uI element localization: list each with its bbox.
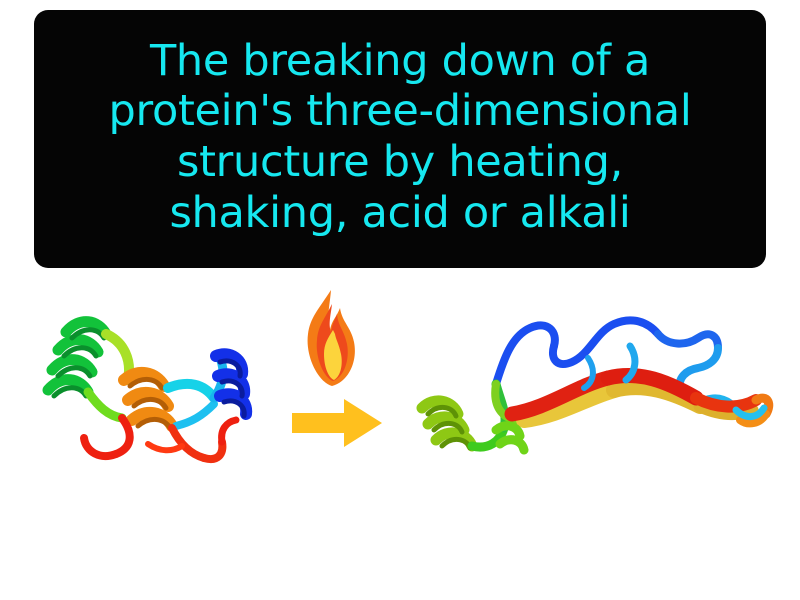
definition-panel: The breaking down of a protein's three-d… bbox=[34, 10, 766, 268]
definition-card: The breaking down of a protein's three-d… bbox=[0, 0, 800, 600]
unfolded-protein-ribbon-diagram bbox=[400, 288, 780, 478]
definition-text: The breaking down of a protein's three-d… bbox=[109, 36, 692, 239]
folded-protein-ribbon-diagram bbox=[28, 276, 268, 486]
right-arrow-icon bbox=[288, 393, 388, 453]
illustration-area bbox=[0, 268, 800, 518]
flame-icon bbox=[296, 286, 366, 391]
